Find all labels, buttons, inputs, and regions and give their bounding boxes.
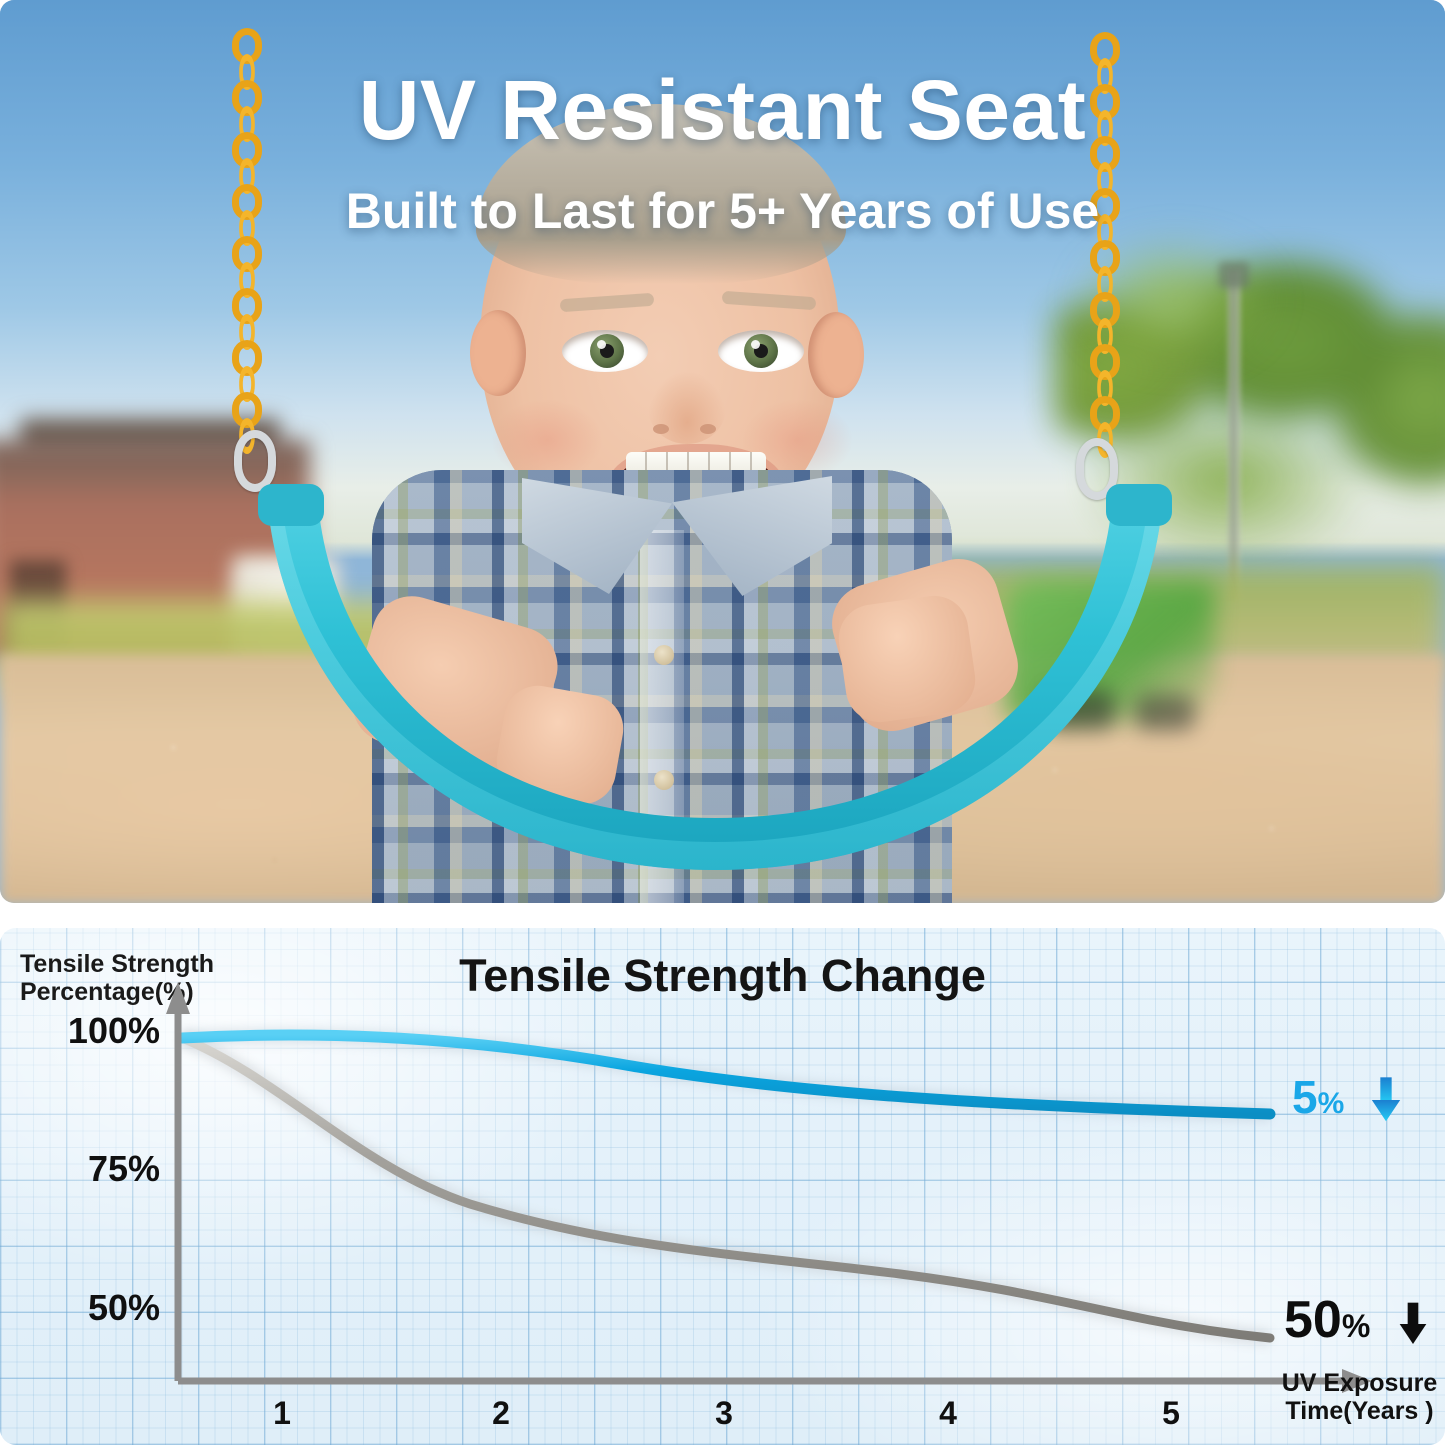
product-infographic: UV Resistant Seat Built to Last for 5+ Y… <box>0 0 1445 1445</box>
blue-series-end-label: 5% <box>1292 1074 1403 1123</box>
background-pole-top <box>1219 262 1249 288</box>
child-ear-left <box>470 310 526 396</box>
child-nostril-left <box>653 424 669 434</box>
page-title: UV Resistant Seat <box>0 62 1445 159</box>
gray-series-end-value: 50 <box>1284 1291 1342 1349</box>
x-axis-title-line1: UV Exposure <box>1282 1369 1438 1397</box>
y-tick-75: 75% <box>0 1148 160 1190</box>
y-tick-50: 50% <box>0 1287 160 1329</box>
child-cheek-left <box>492 400 602 480</box>
x-tick-3: 3 <box>694 1395 754 1432</box>
hero-photo: UV Resistant Seat Built to Last for 5+ Y… <box>0 0 1445 903</box>
gray-series-end-label: 50% <box>1284 1294 1429 1346</box>
arrow-down-icon-blue <box>1369 1077 1403 1123</box>
x-axis-title-line2: Time(Years ) <box>1285 1397 1433 1425</box>
arrow-down-icon-black <box>1397 1302 1429 1346</box>
blue-series-end-value: 5 <box>1292 1071 1318 1123</box>
page-subtitle: Built to Last for 5+ Years of Use <box>0 182 1445 240</box>
child-eye-glint-right <box>751 340 760 349</box>
tensile-strength-chart-panel: Tensile Strength Percentage(%) Tensile S… <box>0 928 1445 1445</box>
x-tick-4: 4 <box>918 1395 978 1432</box>
x-tick-5: 5 <box>1141 1395 1201 1432</box>
y-axis-arrow <box>166 982 190 1014</box>
x-axis-title: UV Exposure Time(Years ) <box>1272 1370 1445 1425</box>
x-tick-1: 1 <box>252 1395 312 1432</box>
blue-series-end-percent: % <box>1318 1087 1345 1120</box>
child-eye-glint-left <box>597 340 606 349</box>
chart-plot <box>0 928 1445 1445</box>
child-nostril-right <box>700 424 716 434</box>
x-tick-2: 2 <box>471 1395 531 1432</box>
swing-seat <box>250 470 1200 890</box>
background-pole <box>1228 270 1240 600</box>
y-tick-100: 100% <box>0 1010 160 1052</box>
gray-series-end-percent: % <box>1342 1308 1370 1344</box>
child-ear-right <box>808 312 864 398</box>
